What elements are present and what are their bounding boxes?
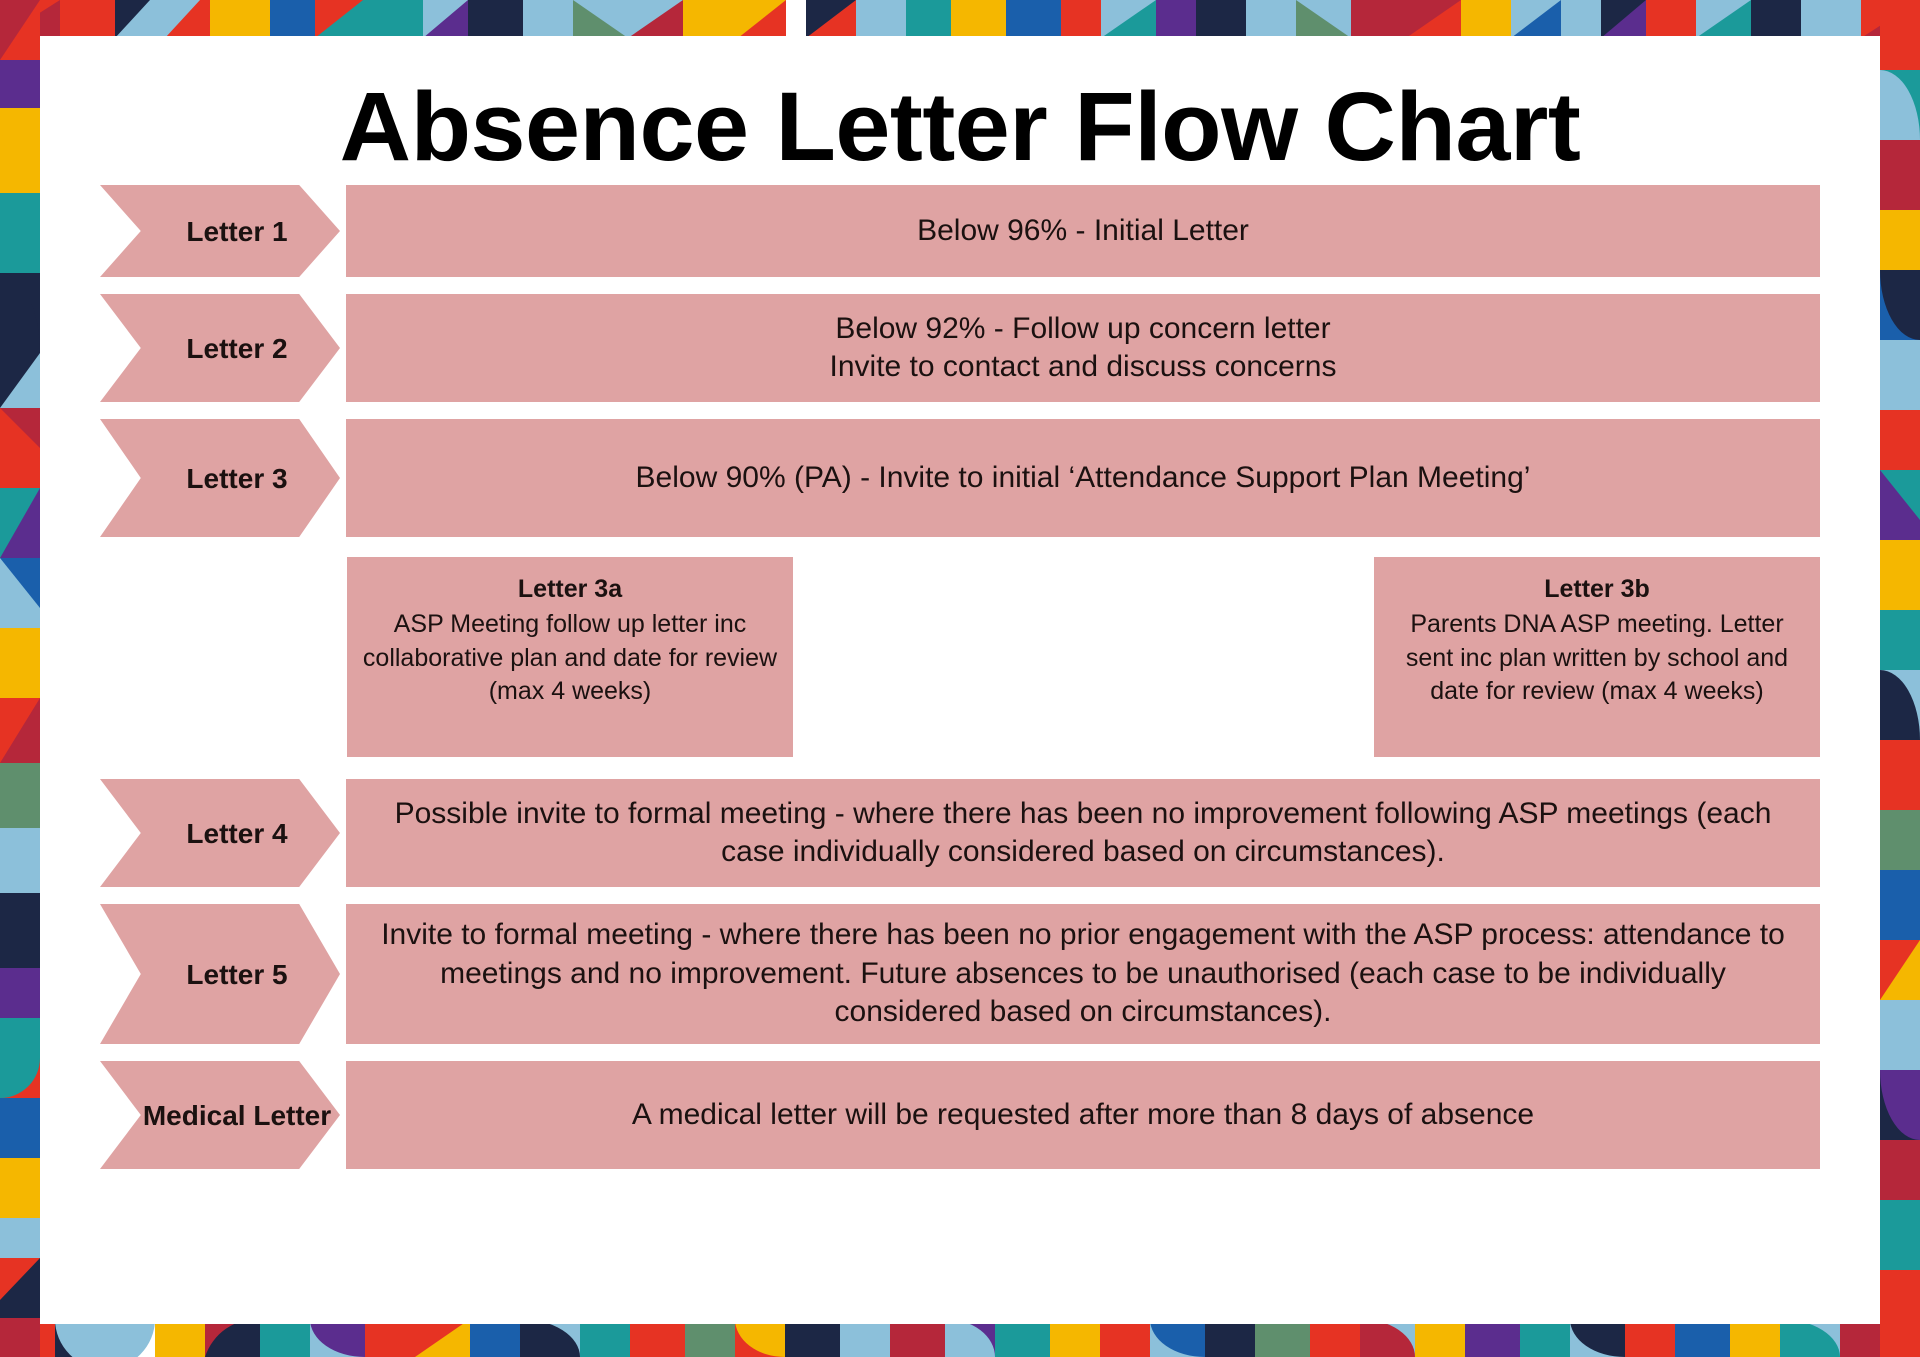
flow-row-letter-1[interactable]: Letter 1 Below 96% - Initial Letter	[100, 185, 1820, 277]
flow-bar-line: Below 92% - Follow up concern letter	[372, 310, 1794, 348]
flow-bar-medical-letter: A medical letter will be requested after…	[346, 1061, 1820, 1169]
flow-bar-letter-1: Below 96% - Initial Letter	[346, 185, 1820, 277]
chevron-label-letter-5: Letter 5	[100, 904, 340, 1044]
sub-box-letter-3b[interactable]: Letter 3b Parents DNA ASP meeting. Lette…	[1374, 557, 1820, 757]
flow-row-letter-2[interactable]: Letter 2 Below 92% - Follow up concern l…	[100, 294, 1820, 402]
chevron-label-medical-letter: Medical Letter	[100, 1061, 340, 1169]
content-card: Absence Letter Flow Chart Letter 1 Below…	[40, 36, 1880, 1324]
flow-bar-letter-4: Possible invite to formal meeting - wher…	[346, 779, 1820, 887]
flow-bar-letter-2: Below 92% - Follow up concern letter Inv…	[346, 294, 1820, 402]
chevron-label-letter-2: Letter 2	[100, 294, 340, 402]
flow-row-letter-5[interactable]: Letter 5 Invite to formal meeting - wher…	[100, 904, 1820, 1044]
flow-bar-letter-5: Invite to formal meeting - where there h…	[346, 904, 1820, 1044]
flow-bar-letter-3: Below 90% (PA) - Invite to initial ‘Atte…	[346, 419, 1820, 537]
flow-row-medical-letter[interactable]: Medical Letter A medical letter will be …	[100, 1061, 1820, 1169]
sub-box-body: ASP Meeting follow up letter inc collabo…	[361, 608, 779, 708]
poster: Absence Letter Flow Chart Letter 1 Below…	[0, 0, 1920, 1357]
sub-box-title: Letter 3a	[361, 573, 779, 606]
flow-row-letter-4[interactable]: Letter 4 Possible invite to formal meeti…	[100, 779, 1820, 887]
flow-bar-line: Possible invite to formal meeting - wher…	[372, 795, 1794, 872]
chevron-label-letter-4: Letter 4	[100, 779, 340, 887]
chevron-label-letter-1: Letter 1	[100, 185, 340, 277]
sub-box-letter-3a[interactable]: Letter 3a ASP Meeting follow up letter i…	[347, 557, 793, 757]
page-title: Absence Letter Flow Chart	[22, 36, 1899, 185]
flow-bar-line: Below 96% - Initial Letter	[372, 212, 1794, 250]
flow-bar-line: Invite to formal meeting - where there h…	[372, 916, 1794, 1031]
flow-chart: Letter 1 Below 96% - Initial Letter Lett…	[40, 185, 1880, 1169]
flow-bar-line: Below 90% (PA) - Invite to initial ‘Atte…	[372, 459, 1794, 497]
flow-row-letter-3[interactable]: Letter 3 Below 90% (PA) - Invite to init…	[100, 419, 1820, 537]
chevron-label-letter-3: Letter 3	[100, 419, 340, 537]
flow-bar-line: A medical letter will be requested after…	[372, 1096, 1794, 1134]
sub-box-body: Parents DNA ASP meeting. Letter sent inc…	[1388, 608, 1806, 708]
sub-box-title: Letter 3b	[1388, 573, 1806, 606]
flow-bar-line: Invite to contact and discuss concerns	[372, 348, 1794, 386]
sub-boxes-row: Letter 3a ASP Meeting follow up letter i…	[100, 557, 1820, 757]
